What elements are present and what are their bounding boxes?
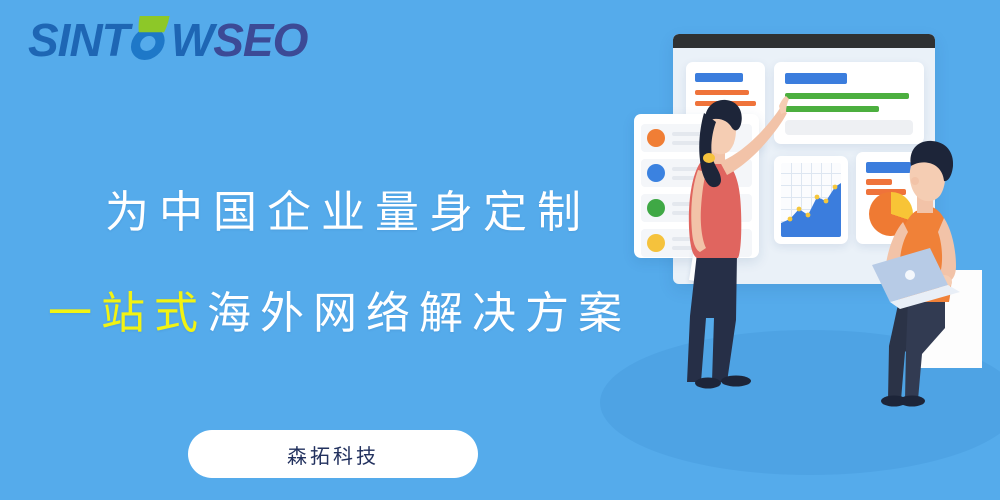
headline-secondary: 一站式海外网络解决方案: [48, 277, 631, 341]
headline-primary: 为中国企业量身定制: [105, 176, 591, 240]
cta-button[interactable]: 森拓科技: [188, 430, 478, 478]
logo[interactable]: SINT W SEO: [28, 14, 307, 66]
logo-text-primary-left: SINT: [28, 17, 129, 63]
logo-o-mark: [126, 20, 174, 60]
woman-presenting: [687, 96, 789, 389]
logo-text-primary-right: W: [171, 17, 213, 63]
marketing-banner: SINT W SEO 为中国企业量身定制 一站式海外网络解决方案 森拓科技: [0, 0, 1000, 500]
people-illustration: [0, 0, 1000, 500]
headline-secondary-rest: 海外网络解决方案: [207, 288, 631, 339]
logo-text-secondary: SEO: [213, 17, 307, 63]
hero-illustration: [0, 0, 1000, 500]
man-with-laptop: [872, 141, 960, 407]
headline-secondary-accent: 一站式: [48, 288, 207, 339]
